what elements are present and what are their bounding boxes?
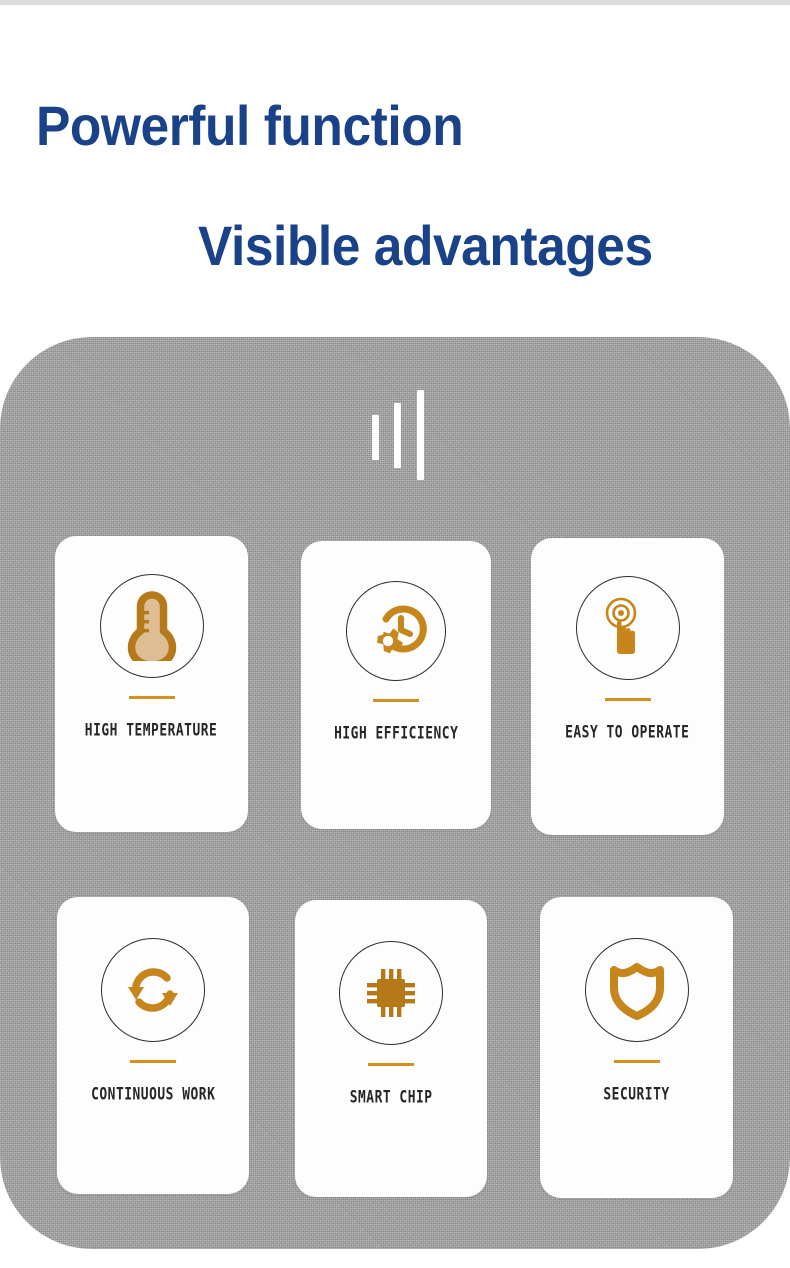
refresh-cycle-icon [122, 959, 184, 1021]
feature-label: SECURITY [603, 1083, 669, 1103]
card-label-slot: CONTINUOUS WORK [57, 1042, 249, 1120]
feature-card[interactable]: HIGH EFFICIENCY [301, 541, 491, 829]
feature-card[interactable]: CONTINUOUS WORK [57, 897, 249, 1194]
card-label-slot: HIGH TEMPERATURE [55, 678, 248, 756]
feature-label: SMART CHIP [350, 1086, 433, 1106]
feature-card[interactable]: HIGH TEMPERATURE [55, 536, 248, 832]
clock-gear-icon [365, 600, 427, 662]
feature-card-grid: HIGH TEMPERATURE HIGH EFFICIENCY [0, 0, 790, 1268]
card-divider [614, 1060, 660, 1063]
card-divider [605, 698, 651, 701]
feature-card[interactable]: SMART CHIP [295, 900, 487, 1197]
touch-hand-icon [599, 596, 657, 660]
icon-frame [576, 576, 680, 680]
feature-label: EASY TO OPERATE [565, 721, 689, 741]
card-label-slot: EASY TO OPERATE [531, 680, 724, 758]
card-divider [129, 696, 175, 699]
card-label-slot: HIGH EFFICIENCY [301, 681, 491, 759]
icon-frame [100, 574, 204, 678]
card-label-slot: SECURITY [540, 1042, 733, 1120]
thermometer-icon [123, 591, 181, 661]
feature-card[interactable]: SECURITY [540, 897, 733, 1198]
feature-label: HIGH TEMPERATURE [85, 719, 218, 739]
cpu-chip-icon [362, 964, 420, 1022]
icon-frame [101, 938, 205, 1042]
card-label-slot: SMART CHIP [295, 1045, 487, 1123]
feature-label: CONTINUOUS WORK [91, 1083, 215, 1103]
feature-card[interactable]: EASY TO OPERATE [531, 538, 724, 835]
feature-label: HIGH EFFICIENCY [334, 722, 458, 742]
card-divider [373, 699, 419, 702]
icon-frame [585, 938, 689, 1042]
card-divider [130, 1060, 176, 1063]
icon-frame [346, 581, 446, 681]
shield-icon [607, 960, 667, 1020]
icon-frame [339, 941, 443, 1045]
card-divider [368, 1063, 414, 1066]
